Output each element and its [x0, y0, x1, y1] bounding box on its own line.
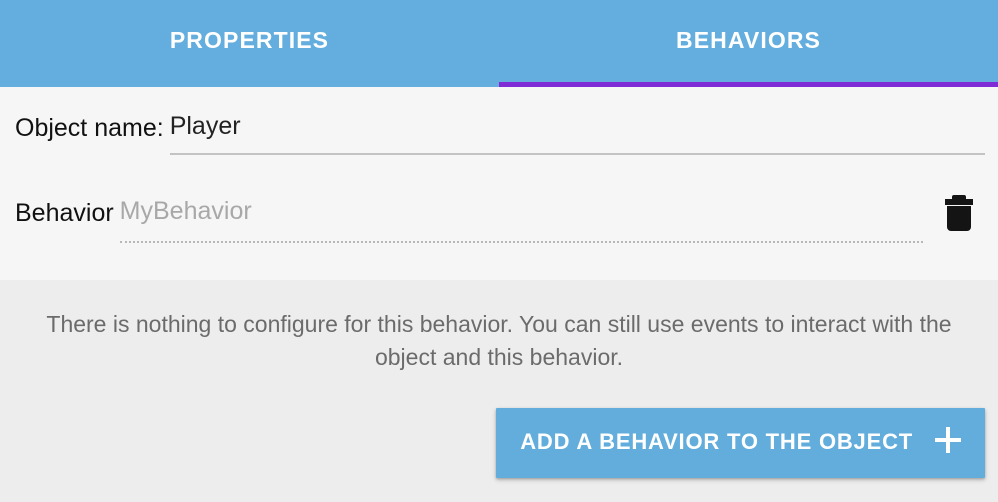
behavior-editor-panel: PROPERTIES BEHAVIORS Object name: Player…	[0, 0, 998, 502]
tab-behaviors-label: BEHAVIORS	[676, 29, 821, 58]
plus-icon	[933, 425, 963, 461]
button-row: ADD A BEHAVIOR TO THE OBJECT	[0, 408, 985, 478]
form-section: Object name: Player Behavior MyBehavior	[0, 87, 998, 280]
object-name-label: Object name:	[15, 116, 164, 141]
behavior-name-underline	[120, 241, 923, 243]
behavior-field-wrap[interactable]: MyBehavior	[120, 169, 923, 257]
empty-state-message: There is nothing to configure for this b…	[0, 280, 998, 375]
behavior-content-area: There is nothing to configure for this b…	[0, 280, 998, 502]
tab-bar: PROPERTIES BEHAVIORS	[0, 0, 998, 87]
object-name-input[interactable]: Player	[170, 114, 241, 143]
add-behavior-button-label: ADD A BEHAVIOR TO THE OBJECT	[520, 431, 913, 455]
object-name-underline	[170, 153, 985, 155]
add-behavior-button[interactable]: ADD A BEHAVIOR TO THE OBJECT	[496, 408, 985, 478]
object-name-row: Object name: Player	[0, 87, 998, 169]
tab-behaviors[interactable]: BEHAVIORS	[499, 0, 998, 87]
behavior-label: Behavior	[15, 201, 114, 226]
behavior-row: Behavior MyBehavior	[0, 169, 998, 257]
behavior-name-input[interactable]: MyBehavior	[120, 199, 252, 228]
object-name-field-wrap[interactable]: Player	[170, 87, 985, 169]
trash-icon	[942, 194, 976, 232]
delete-behavior-button[interactable]	[933, 187, 985, 239]
tab-properties-label: PROPERTIES	[170, 29, 329, 58]
tab-properties[interactable]: PROPERTIES	[0, 0, 499, 87]
